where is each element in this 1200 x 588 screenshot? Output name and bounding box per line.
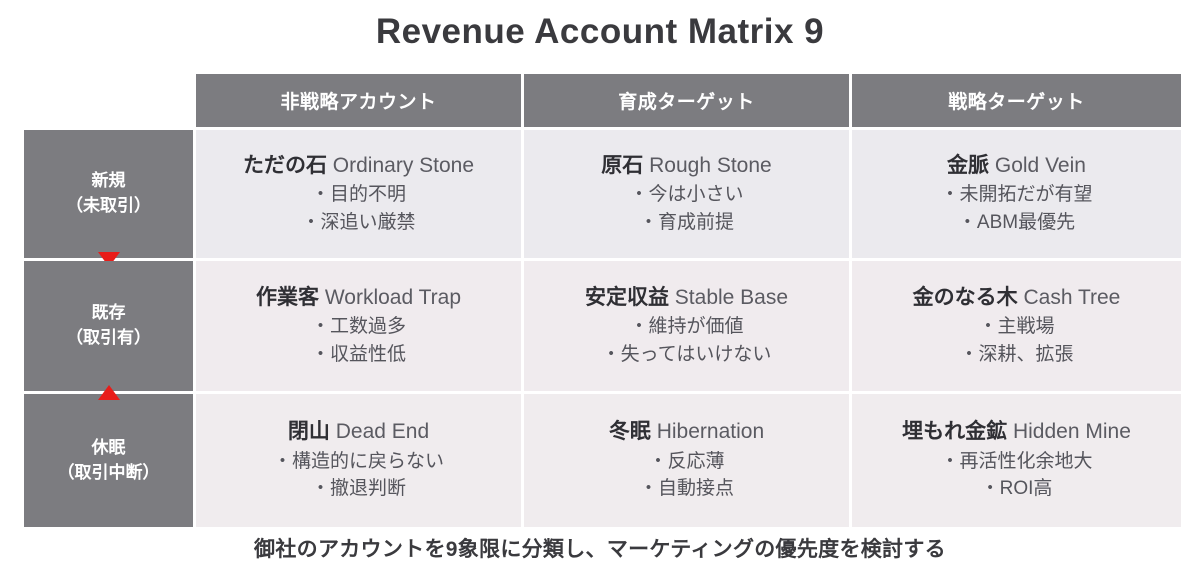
matrix-corner [24, 74, 193, 127]
cell-bullet: ・今は小さい [629, 181, 743, 209]
cell-title-en: Gold Vein [995, 154, 1086, 177]
matrix-grid: 非戦略アカウント 育成ターゲット 戦略ターゲット 新規 （未取引） ただの石 O… [24, 74, 1172, 518]
cell-bullet: ・撤退判断 [311, 475, 406, 503]
cell-title: 安定収益 Stable Base [585, 284, 788, 312]
cell-title-en: Cash Tree [1023, 286, 1120, 309]
cell-bullet: ・反応薄 [648, 448, 724, 476]
page-title: Revenue Account Matrix 9 [0, 8, 1200, 56]
cell-bullet: ・失ってはいけない [602, 341, 772, 369]
cell-title-en: Hidden Mine [1013, 420, 1131, 443]
cell-new-non-strategic: ただの石 Ordinary Stone ・目的不明 ・深追い厳禁 [196, 130, 521, 258]
row-header-existing: 既存 （取引有） [24, 261, 193, 391]
cell-existing-nurture: 安定収益 Stable Base ・維持が価値 ・失ってはいけない [524, 261, 849, 391]
cell-bullet: ・目的不明 [311, 181, 406, 209]
cell-bullet: ・自動接点 [639, 475, 734, 503]
cell-title: 金脈 Gold Vein [947, 152, 1086, 180]
cell-bullet: ・育成前提 [639, 209, 734, 237]
arrow-up-icon [98, 385, 120, 400]
cell-title-en: Rough Stone [649, 154, 772, 177]
cell-title: 冬眠 Hibernation [609, 418, 764, 446]
row-header-new-line2: （未取引） [66, 194, 151, 219]
cell-bullet: ・ABM最優先 [958, 209, 1075, 237]
cell-title: ただの石 Ordinary Stone [243, 152, 474, 180]
account-matrix-page: Revenue Account Matrix 9 非戦略アカウント 育成ターゲッ… [0, 0, 1200, 588]
cell-bullet: ・再活性化余地大 [940, 448, 1092, 476]
cell-bullet: ・深耕、拡張 [959, 341, 1073, 369]
cell-title-jp: 安定収益 [585, 286, 669, 309]
cell-title: 作業客 Workload Trap [256, 284, 461, 312]
cell-bullet: ・ROI高 [981, 475, 1053, 503]
cell-existing-strategic: 金のなる木 Cash Tree ・主戦場 ・深耕、拡張 [852, 261, 1181, 391]
cell-bullet: ・工数過多 [311, 313, 406, 341]
cell-dormant-non-strategic: 閉山 Dead End ・構造的に戻らない ・撤退判断 [196, 394, 521, 527]
cell-title-jp: 埋もれ金鉱 [902, 420, 1007, 443]
cell-title-en: Workload Trap [325, 286, 461, 309]
row-header-new-line1: 新規 [92, 169, 126, 194]
cell-title-jp: 金のなる木 [913, 286, 1018, 309]
cell-bullet: ・収益性低 [311, 341, 406, 369]
row-header-dormant: 休眠 （取引中断） [24, 394, 193, 527]
row-header-existing-line2: （取引有） [66, 326, 151, 351]
cell-dormant-nurture: 冬眠 Hibernation ・反応薄 ・自動接点 [524, 394, 849, 527]
cell-bullet: ・未開拓だが有望 [940, 181, 1092, 209]
cell-title-jp: ただの石 [243, 154, 327, 177]
cell-title-en: Stable Base [675, 286, 788, 309]
column-header-non-strategic: 非戦略アカウント [196, 74, 521, 127]
cell-title-jp: 冬眠 [609, 420, 651, 443]
cell-dormant-strategic: 埋もれ金鉱 Hidden Mine ・再活性化余地大 ・ROI高 [852, 394, 1181, 527]
cell-bullet: ・維持が価値 [629, 313, 743, 341]
cell-title-jp: 金脈 [947, 154, 989, 177]
cell-title-jp: 原石 [601, 154, 643, 177]
column-header-strategic-target: 戦略ターゲット [852, 74, 1181, 127]
cell-bullet: ・深追い厳禁 [301, 209, 415, 237]
cell-new-strategic: 金脈 Gold Vein ・未開拓だが有望 ・ABM最優先 [852, 130, 1181, 258]
cell-title: 金のなる木 Cash Tree [913, 284, 1121, 312]
cell-title-en: Hibernation [657, 420, 764, 443]
cell-title-en: Ordinary Stone [333, 154, 474, 177]
cell-title: 原石 Rough Stone [601, 152, 771, 180]
cell-title-en: Dead End [336, 420, 429, 443]
row-header-existing-line1: 既存 [92, 301, 126, 326]
cell-existing-non-strategic: 作業客 Workload Trap ・工数過多 ・収益性低 [196, 261, 521, 391]
cell-new-nurture: 原石 Rough Stone ・今は小さい ・育成前提 [524, 130, 849, 258]
cell-title: 閉山 Dead End [288, 418, 429, 446]
cell-title-jp: 閉山 [288, 420, 330, 443]
cell-bullet: ・構造的に戻らない [273, 448, 444, 476]
column-header-nurture-target: 育成ターゲット [524, 74, 849, 127]
row-header-new: 新規 （未取引） [24, 130, 193, 258]
cell-title: 埋もれ金鉱 Hidden Mine [902, 418, 1131, 446]
row-header-dormant-line2: （取引中断） [58, 461, 160, 486]
cell-title-jp: 作業客 [256, 286, 319, 309]
cell-bullet: ・主戦場 [978, 313, 1054, 341]
footer-caption: 御社のアカウントを9象限に分類し、マーケティングの優先度を検討する [0, 533, 1200, 563]
row-header-dormant-line1: 休眠 [92, 436, 126, 461]
